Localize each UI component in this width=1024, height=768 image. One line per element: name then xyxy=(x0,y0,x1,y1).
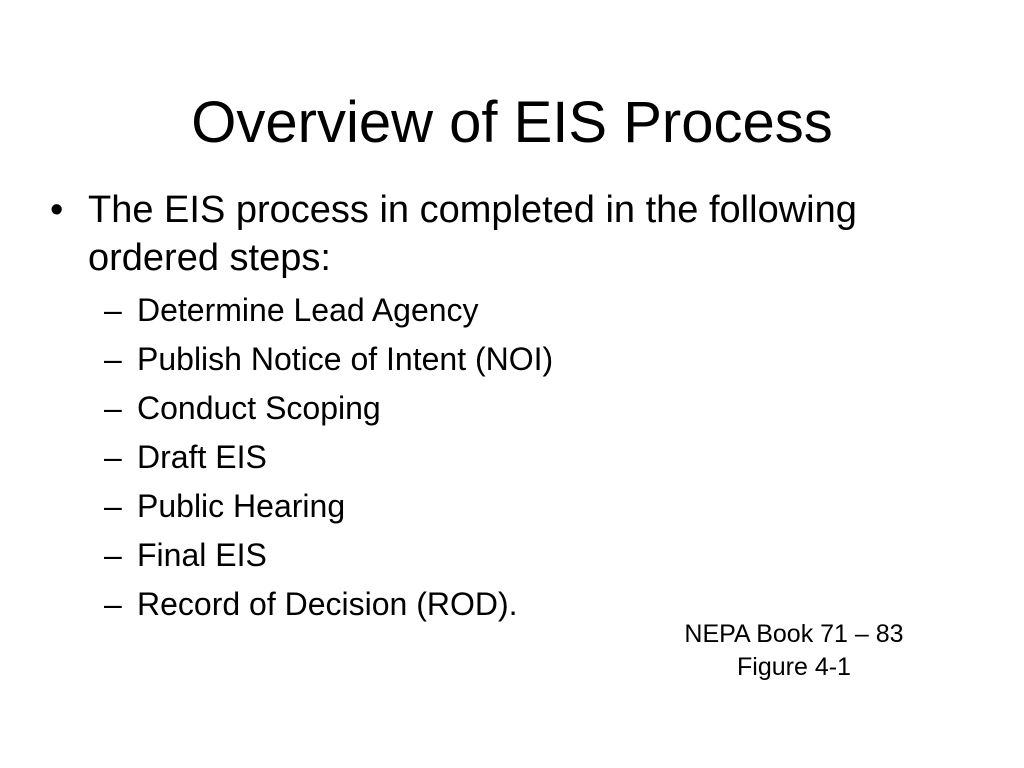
presentation-slide: Overview of EIS Process • The EIS proces… xyxy=(0,0,1024,768)
list-item-label: Public Hearing xyxy=(137,488,345,524)
page-title: Overview of EIS Process xyxy=(0,91,1024,155)
sub-bullet-list: – Determine Lead Agency – Publish Notice… xyxy=(46,286,946,629)
bullet-level1: • The EIS process in completed in the fo… xyxy=(46,186,946,282)
dash-icon: – xyxy=(104,384,122,433)
list-item-label: Conduct Scoping xyxy=(137,390,381,426)
list-item: – Public Hearing xyxy=(46,482,946,531)
bullet-level1-label: The EIS process in completed in the foll… xyxy=(88,186,946,282)
bullet-dot-icon: • xyxy=(50,186,63,234)
source-reference-figure: Figure 4-1 xyxy=(658,651,930,684)
list-item-label: Final EIS xyxy=(137,537,267,573)
list-item: – Conduct Scoping xyxy=(46,384,946,433)
dash-icon: – xyxy=(104,580,122,629)
dash-icon: – xyxy=(104,286,122,335)
dash-icon: – xyxy=(104,482,122,531)
source-reference-book: NEPA Book 71 – 83 xyxy=(658,618,930,651)
dash-icon: – xyxy=(104,335,122,384)
slide-body: • The EIS process in completed in the fo… xyxy=(46,186,946,629)
list-item-label: Publish Notice of Intent (NOI) xyxy=(137,341,553,377)
dash-icon: – xyxy=(104,531,122,580)
list-item: – Final EIS xyxy=(46,531,946,580)
source-reference: NEPA Book 71 – 83 Figure 4-1 xyxy=(658,618,930,684)
list-item-label: Draft EIS xyxy=(137,439,267,475)
list-item-label: Record of Decision (ROD). xyxy=(137,586,518,622)
list-item: – Determine Lead Agency xyxy=(46,286,946,335)
list-item-label: Determine Lead Agency xyxy=(137,292,479,328)
dash-icon: – xyxy=(104,433,122,482)
list-item: – Publish Notice of Intent (NOI) xyxy=(46,335,946,384)
list-item: – Draft EIS xyxy=(46,433,946,482)
